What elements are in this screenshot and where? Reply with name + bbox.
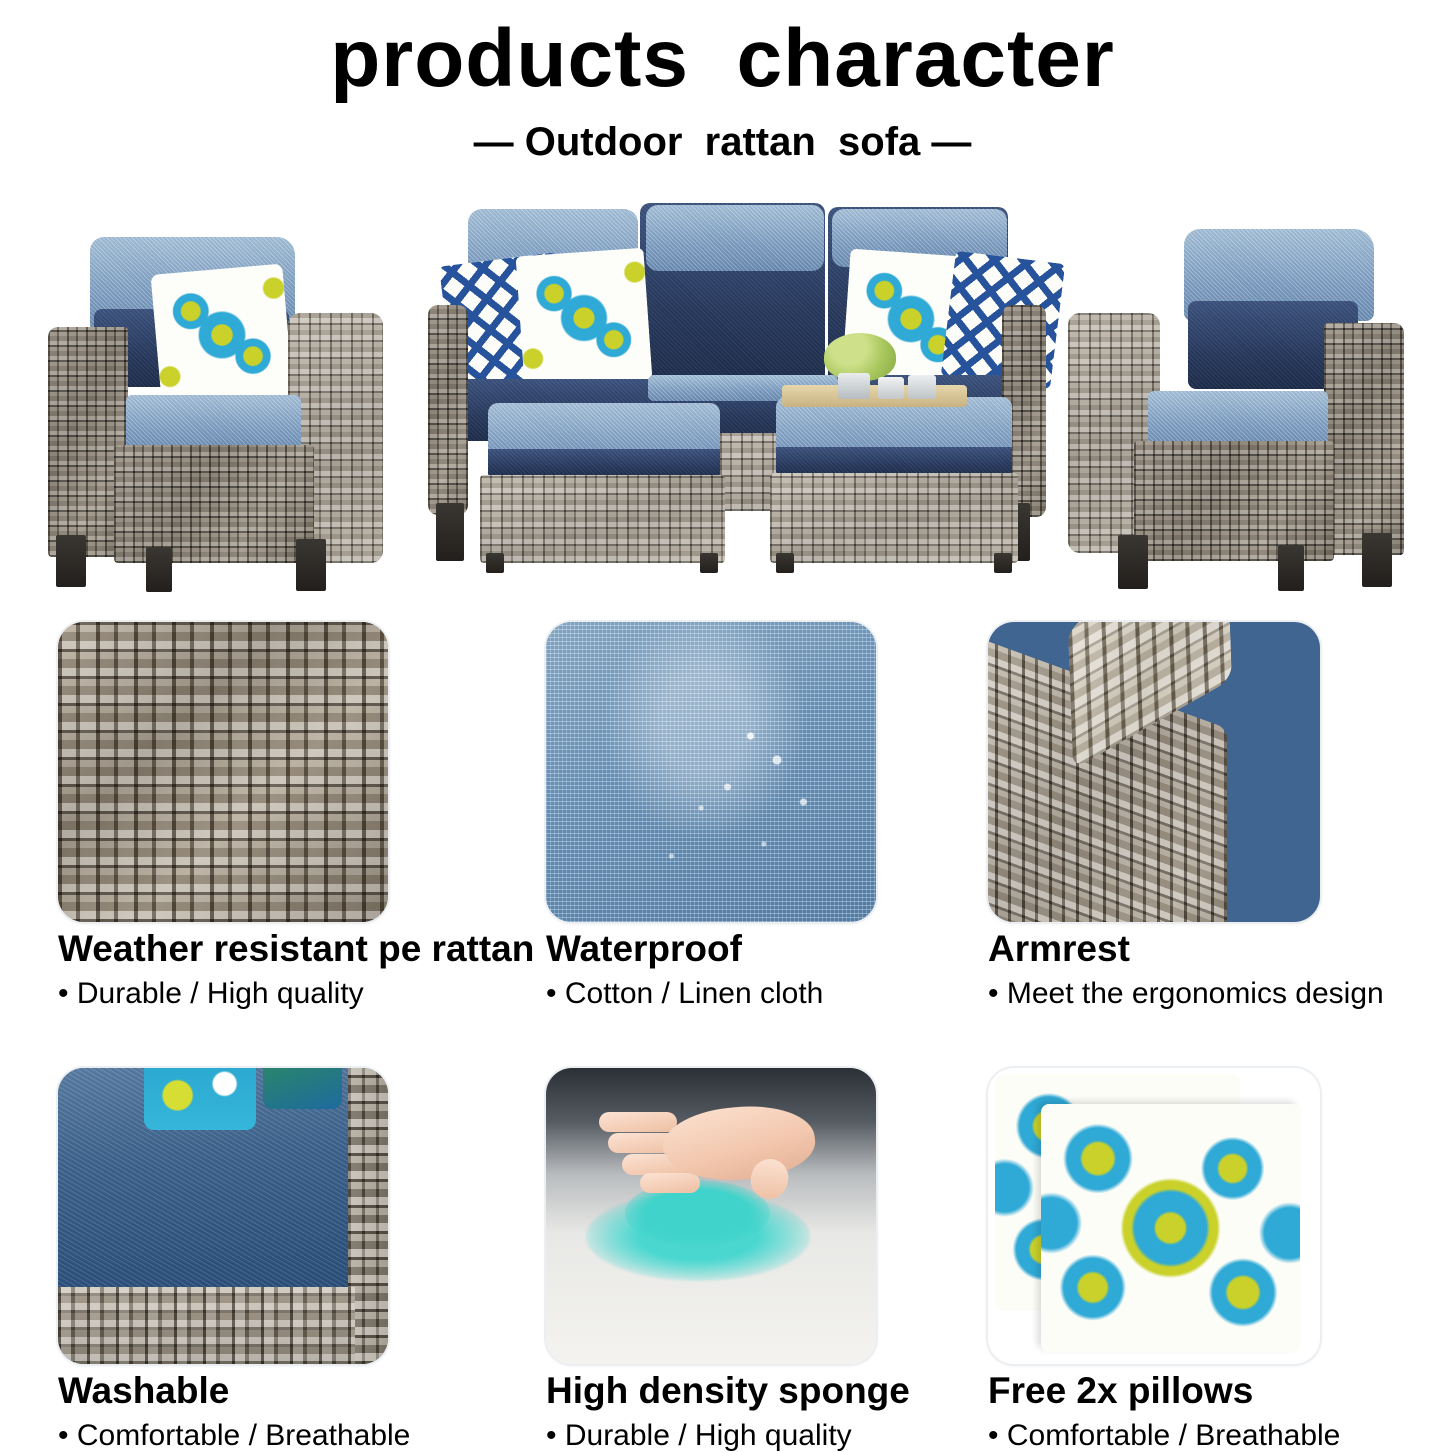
- armchair-right: [1052, 215, 1404, 593]
- feature-title: Weather resistant pe rattan: [58, 930, 528, 969]
- cushion-seam-closeup-image: [58, 1068, 388, 1364]
- header: products character — Outdoor rattan sofa…: [0, 0, 1445, 162]
- pillow-front: [1041, 1104, 1300, 1353]
- hand-pressing-memory-foam-image: [546, 1068, 876, 1364]
- feature-card-weather-resistant-pe-rattan: Weather resistant pe rattan • Durable / …: [58, 622, 528, 1022]
- feature-card-high-density-sponge: High density sponge • Durable / High qua…: [546, 1068, 976, 1448]
- page-title: products character: [0, 0, 1445, 100]
- ottoman-right: [770, 397, 1018, 575]
- teal-pattern-pillow: [144, 1068, 256, 1130]
- feature-thumbnail-woven-armrest-closeup: [988, 622, 1320, 922]
- feature-title: Free 2x pillows: [988, 1372, 1418, 1411]
- armchair-left: [48, 217, 398, 592]
- feature-title: Armrest: [988, 930, 1408, 969]
- rattan-edge-bottom: [58, 1287, 355, 1364]
- product-feature-infographic: products character — Outdoor rattan sofa…: [0, 0, 1445, 1445]
- feature-subtitle: • Cotton / Linen cloth: [546, 978, 966, 1010]
- hand-illustration: [599, 1086, 830, 1204]
- feature-title: Washable: [58, 1372, 528, 1411]
- secondary-pillow: [263, 1068, 342, 1109]
- feature-subtitle: • Durable / High quality: [58, 978, 528, 1010]
- feature-card-washable: Washable • Comfortable / Breathable: [58, 1068, 528, 1448]
- feature-thumbnail-two-suzani-pattern-pillows: [988, 1068, 1320, 1364]
- feature-thumbnail-water-droplets-on-fabric: [546, 622, 876, 922]
- feature-thumbnail-cushion-seam-closeup: [58, 1068, 388, 1364]
- feature-subtitle: • Meet the ergonomics design: [988, 978, 1408, 1010]
- feature-card-armrest: Armrest • Meet the ergonomics design: [988, 622, 1408, 1022]
- ottoman-left: [480, 403, 725, 575]
- feature-title: Waterproof: [546, 930, 966, 969]
- hero-product-image: [30, 185, 1420, 595]
- page-subtitle: — Outdoor rattan sofa —: [0, 100, 1445, 162]
- woven-armrest-closeup-image: [988, 622, 1320, 922]
- feature-subtitle: • Comfortable / Breathable: [58, 1420, 528, 1452]
- feature-thumbnail-rattan-weave-texture: [58, 622, 388, 922]
- feature-card-free-2x-pillows: Free 2x pillows • Comfortable / Breathab…: [988, 1068, 1418, 1448]
- feature-card-waterproof: Waterproof • Cotton / Linen cloth: [546, 622, 966, 1022]
- water-droplets-on-fabric-image: [546, 622, 876, 922]
- feature-thumbnail-hand-pressing-memory-foam: [546, 1068, 876, 1364]
- feature-subtitle: • Durable / High quality: [546, 1420, 976, 1452]
- rattan-weave-texture-image: [58, 622, 388, 922]
- feature-subtitle: • Comfortable / Breathable: [988, 1420, 1418, 1452]
- feature-title: High density sponge: [546, 1372, 976, 1411]
- two-suzani-pattern-pillows-image: [988, 1068, 1320, 1364]
- decor-plant-tray: [782, 333, 967, 413]
